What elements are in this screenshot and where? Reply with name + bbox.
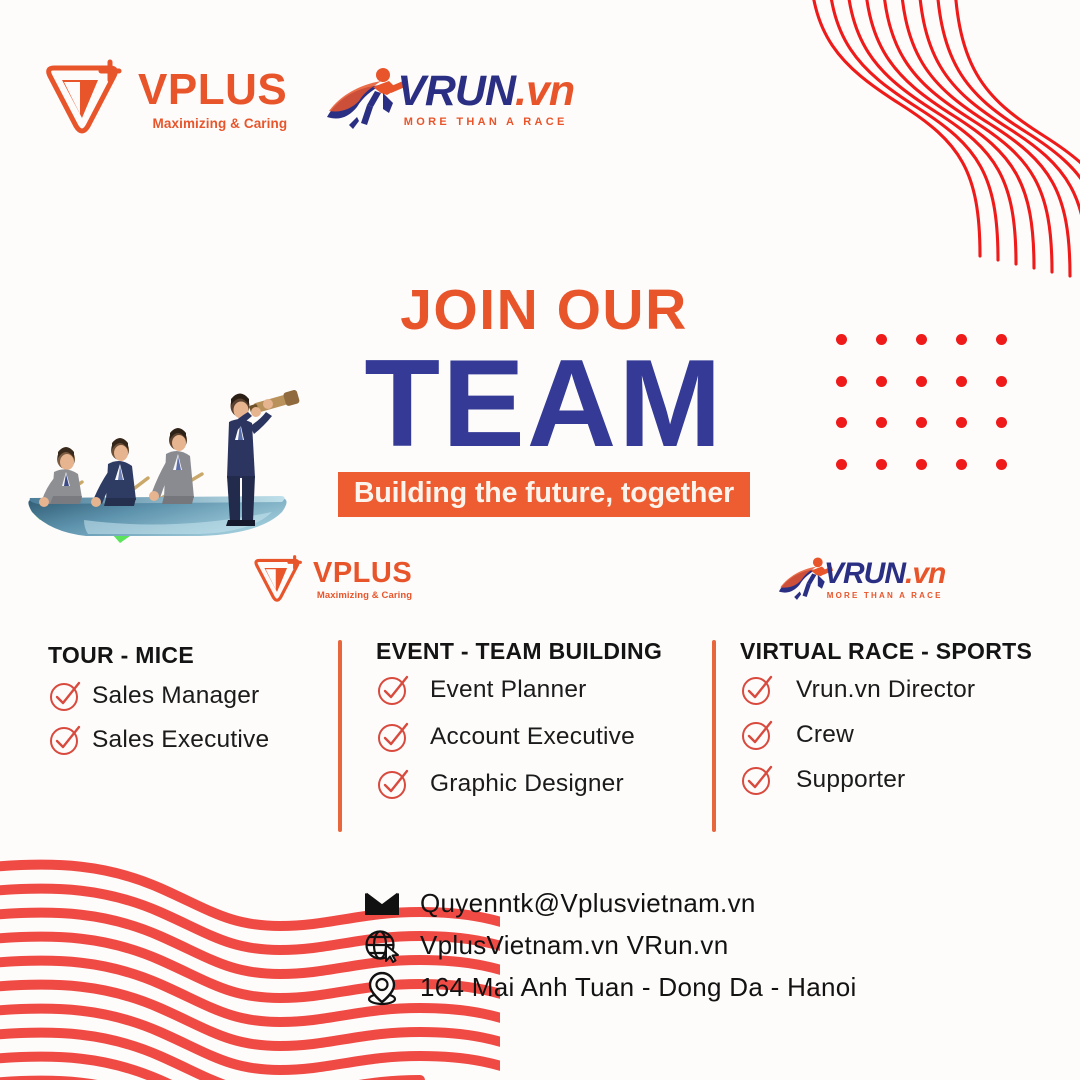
tagline-banner: Building the future, together bbox=[338, 472, 750, 517]
check-circle-icon bbox=[376, 720, 410, 754]
vplus-logo[interactable]: VPLUS Maximizing & Caring bbox=[36, 56, 287, 142]
job-column-event-team-building: EVENT - TEAM BUILDING Event Planner Acco… bbox=[320, 636, 712, 836]
job-columns: TOUR - MICE Sales Manager Sales Executiv… bbox=[0, 636, 1080, 836]
rowing-boat-illustration bbox=[24, 382, 316, 550]
grid-dot bbox=[876, 417, 887, 428]
job-label: Sales Manager bbox=[92, 682, 259, 710]
grid-dot bbox=[876, 376, 887, 387]
mid-vrun-logo[interactable]: VRUN.vn MORE THAN A RACE bbox=[776, 554, 945, 604]
grid-dot bbox=[836, 417, 847, 428]
dot-grid bbox=[836, 334, 1036, 500]
tagline-text: Building the future, together bbox=[354, 477, 734, 509]
job-column-tour-mice: TOUR - MICE Sales Manager Sales Executiv… bbox=[0, 636, 320, 836]
contact-row-email[interactable]: Quyenntk@Vplusvietnam.vn bbox=[362, 884, 857, 922]
job-item[interactable]: Crew bbox=[740, 718, 1080, 752]
check-circle-icon bbox=[740, 673, 774, 707]
vplus-triangle-icon bbox=[248, 552, 306, 608]
column-title: TOUR - MICE bbox=[48, 642, 320, 669]
grid-dot bbox=[836, 459, 847, 470]
vplus-triangle-icon bbox=[36, 56, 128, 142]
grid-dot bbox=[956, 376, 967, 387]
grid-dot bbox=[836, 376, 847, 387]
contact-website: VplusVietnam.vn VRun.vn bbox=[420, 930, 728, 961]
grid-dot bbox=[836, 334, 847, 345]
contact-email: Quyenntk@Vplusvietnam.vn bbox=[420, 888, 756, 919]
mid-vrun-name: VRUN.vn bbox=[824, 559, 945, 589]
contact-block: Quyenntk@Vplusvietnam.vn VplusVietnam.vn… bbox=[362, 884, 857, 1006]
job-item[interactable]: Account Executive bbox=[376, 720, 712, 754]
job-label: Graphic Designer bbox=[430, 770, 624, 798]
mid-vplus-tagline: Maximizing & Caring bbox=[313, 591, 412, 601]
job-item[interactable]: Event Planner bbox=[376, 673, 712, 707]
headline-line-2: TEAM bbox=[338, 345, 750, 464]
job-item[interactable]: Graphic Designer bbox=[376, 767, 712, 801]
grid-dot bbox=[916, 376, 927, 387]
grid-dot bbox=[876, 459, 887, 470]
vrun-logo-tagline: MORE THAN A RACE bbox=[397, 117, 574, 128]
column-divider bbox=[338, 640, 342, 832]
check-circle-icon bbox=[740, 718, 774, 752]
job-column-virtual-race-sports: VIRTUAL RACE - SPORTS Vrun.vn Director C… bbox=[712, 636, 1080, 836]
job-item[interactable]: Vrun.vn Director bbox=[740, 673, 1080, 707]
check-circle-icon bbox=[48, 679, 82, 713]
grid-dot bbox=[956, 459, 967, 470]
headline-block: JOIN OUR TEAM Building the future, toget… bbox=[338, 282, 750, 517]
check-circle-icon bbox=[376, 673, 410, 707]
column-title: EVENT - TEAM BUILDING bbox=[376, 638, 712, 665]
job-item[interactable]: Sales Executive bbox=[48, 723, 320, 757]
column-divider bbox=[712, 640, 716, 832]
contact-row-website[interactable]: VplusVietnam.vn VRun.vn bbox=[362, 926, 857, 964]
grid-dot bbox=[956, 334, 967, 345]
job-label: Crew bbox=[796, 721, 854, 749]
envelope-icon bbox=[362, 884, 402, 922]
grid-dot bbox=[876, 334, 887, 345]
job-label: Sales Executive bbox=[92, 726, 269, 754]
grid-dot bbox=[916, 417, 927, 428]
mid-vplus-name: VPLUS bbox=[313, 559, 412, 588]
vrun-logo[interactable]: VRUN.vn MORE THAN A RACE bbox=[323, 63, 574, 135]
job-item[interactable]: Supporter bbox=[740, 763, 1080, 797]
job-label: Vrun.vn Director bbox=[796, 676, 975, 704]
wave-lines-top-right bbox=[780, 0, 1080, 296]
grid-dot bbox=[996, 334, 1007, 345]
job-label: Supporter bbox=[796, 766, 905, 794]
grid-dot bbox=[956, 417, 967, 428]
contact-address: 164 Mai Anh Tuan - Dong Da - Hanoi bbox=[420, 972, 857, 1003]
grid-dot bbox=[996, 376, 1007, 387]
globe-cursor-icon bbox=[362, 926, 402, 964]
recruitment-poster: VPLUS Maximizing & Caring VRUN.vn MORE T… bbox=[0, 0, 1080, 1080]
contact-row-address[interactable]: 164 Mai Anh Tuan - Dong Da - Hanoi bbox=[362, 968, 857, 1006]
mid-vrun-tagline: MORE THAN A RACE bbox=[824, 592, 945, 600]
grid-dot bbox=[916, 459, 927, 470]
grid-dot bbox=[996, 459, 1007, 470]
check-circle-icon bbox=[48, 723, 82, 757]
mid-logos-row: VPLUS Maximizing & Caring VRUN.vn MORE T… bbox=[0, 552, 1080, 614]
vplus-logo-name: VPLUS bbox=[138, 68, 287, 112]
job-label: Event Planner bbox=[430, 676, 587, 704]
check-circle-icon bbox=[376, 767, 410, 801]
grid-dot bbox=[916, 334, 927, 345]
job-item[interactable]: Sales Manager bbox=[48, 679, 320, 713]
logo-bar: VPLUS Maximizing & Caring VRUN.vn MORE T… bbox=[36, 56, 574, 142]
location-pin-icon bbox=[362, 968, 402, 1006]
headline-line-1: JOIN OUR bbox=[338, 282, 750, 339]
mid-vplus-logo[interactable]: VPLUS Maximizing & Caring bbox=[248, 552, 412, 608]
check-circle-icon bbox=[740, 763, 774, 797]
grid-dot bbox=[996, 417, 1007, 428]
column-title: VIRTUAL RACE - SPORTS bbox=[740, 638, 1080, 665]
job-label: Account Executive bbox=[430, 723, 635, 751]
vplus-logo-tagline: Maximizing & Caring bbox=[138, 117, 287, 131]
vrun-logo-name: VRUN.vn bbox=[397, 70, 574, 113]
